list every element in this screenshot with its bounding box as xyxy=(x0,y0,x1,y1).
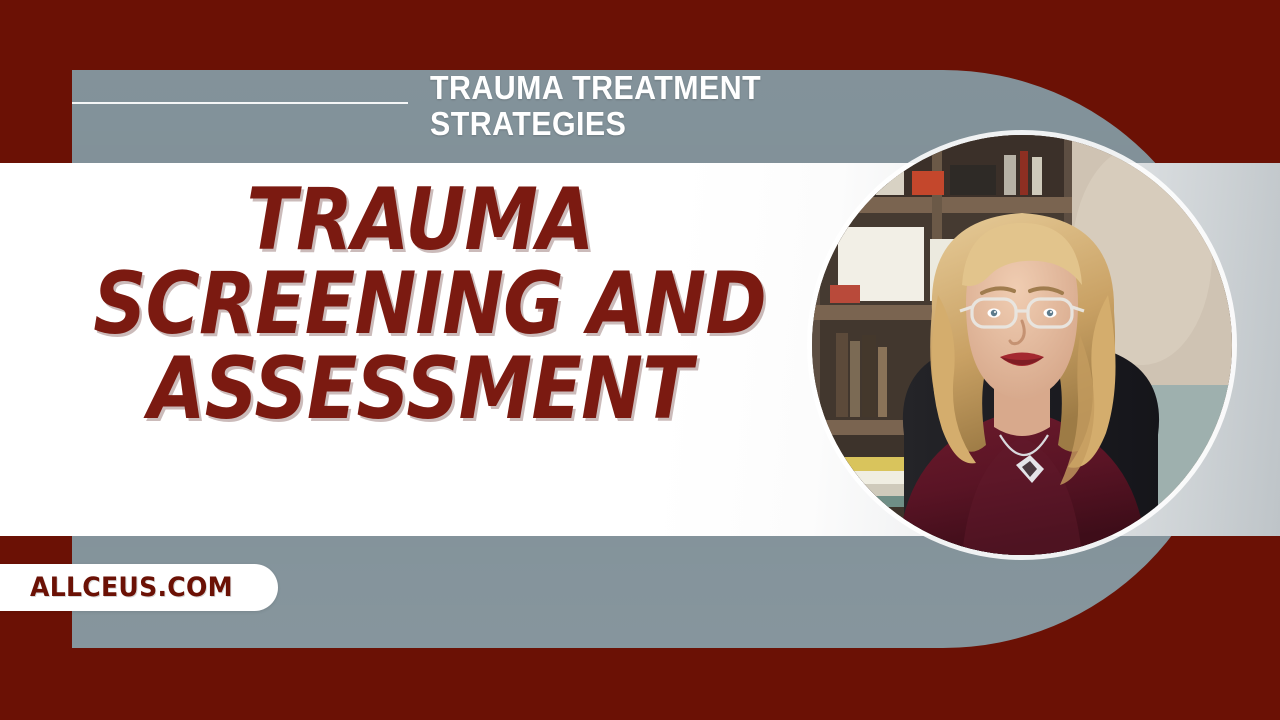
page-title: TRAUMA SCREENING AND ASSESSMENT xyxy=(93,178,747,431)
kicker-line-2: STRATEGIES xyxy=(430,106,862,142)
kicker-line-1: TRAUMA TREATMENT xyxy=(430,70,862,106)
title-line-3: ASSESSMENT xyxy=(93,347,747,431)
site-url-badge[interactable]: ALLCEUS.COM xyxy=(0,564,278,611)
title-line-2: SCREENING AND xyxy=(93,262,747,346)
site-url-label: ALLCEUS.COM xyxy=(30,572,233,603)
presenter-photo xyxy=(812,135,1232,555)
title-line-1: TRAUMA xyxy=(93,178,747,262)
kicker-text: TRAUMA TREATMENT STRATEGIES xyxy=(430,70,862,141)
slide-canvas: TRAUMA TREATMENT STRATEGIES TRAUMA SCREE… xyxy=(0,0,1280,720)
presenter-portrait-illustration xyxy=(812,135,1232,555)
header-divider-rule xyxy=(72,102,408,104)
